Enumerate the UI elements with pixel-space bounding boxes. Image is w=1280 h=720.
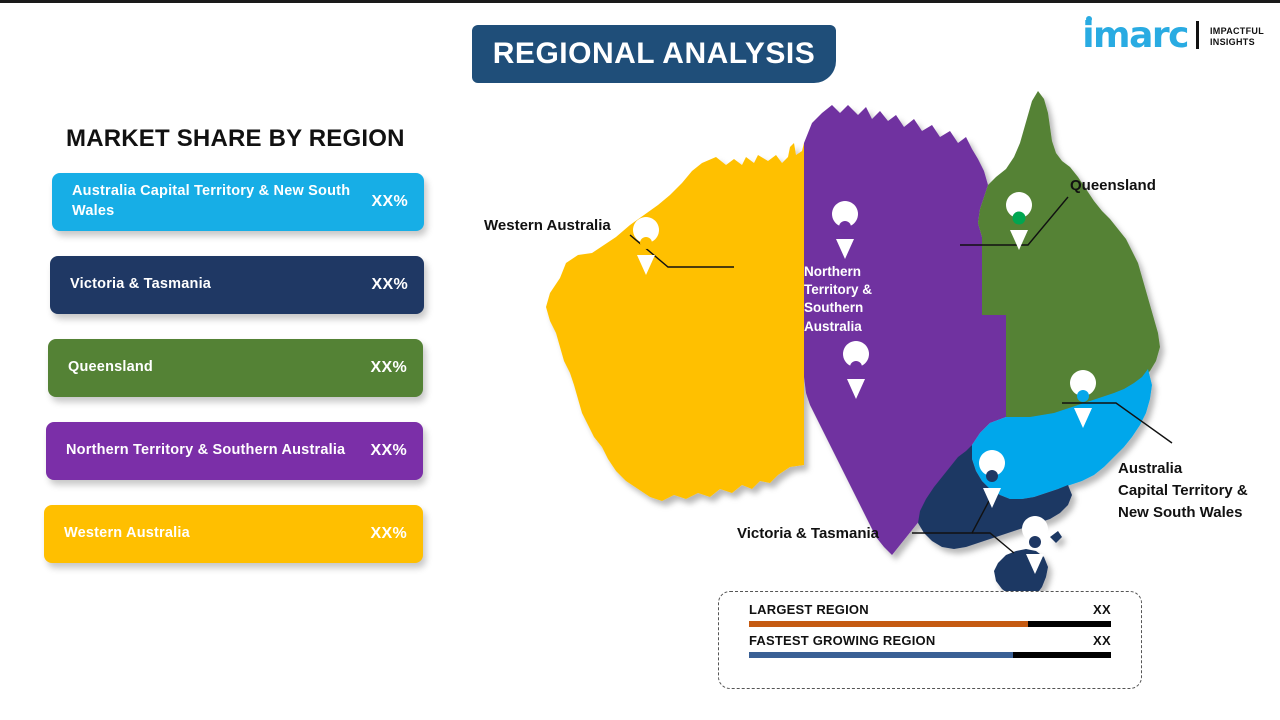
logo-text: imarc (1082, 21, 1188, 51)
callout-queensland: Queensland (1070, 175, 1156, 197)
bar-value: XX% (371, 525, 407, 543)
stat-label: LARGEST REGION (749, 602, 869, 617)
stat-row-largest-region: LARGEST REGION XX (749, 602, 1111, 627)
bar-item-victoria-tasmania[interactable]: Victoria & Tasmania XX% (50, 256, 424, 314)
stat-progress-track (749, 652, 1111, 658)
market-share-bar-list: Australia Capital Territory & New South … (0, 173, 460, 588)
bar-item-act-nsw[interactable]: Australia Capital Territory & New South … (52, 173, 424, 231)
logo-tagline-line2: INSIGHTS (1210, 37, 1264, 48)
region-stats-box: LARGEST REGION XX FASTEST GROWING REGION… (718, 591, 1142, 689)
callout-victoria-tasmania: Victoria & Tasmania (737, 523, 879, 545)
bar-value: XX% (371, 359, 407, 377)
logo-tagline: IMPACTFUL INSIGHTS (1210, 26, 1264, 52)
page-title: REGIONAL ANALYSIS (493, 37, 815, 71)
slide-root: REGIONAL ANALYSIS imarc IMPACTFUL INSIGH… (0, 3, 1280, 720)
stat-value: XX (1093, 633, 1111, 648)
stat-label: FASTEST GROWING REGION (749, 633, 935, 648)
stat-progress-fill (749, 621, 1028, 627)
bar-value: XX% (371, 442, 407, 460)
stat-row-fastest-growing-region: FASTEST GROWING REGION XX (749, 633, 1111, 658)
stat-progress-fill (749, 652, 1013, 658)
imarc-logo: imarc IMPACTFUL INSIGHTS (1082, 21, 1264, 51)
bar-label: Western Australia (64, 524, 190, 544)
bar-label: Victoria & Tasmania (70, 275, 211, 295)
logo-tagline-line1: IMPACTFUL (1210, 26, 1264, 37)
bar-item-queensland[interactable]: Queensland XX% (48, 339, 423, 397)
bar-label: Queensland (68, 358, 153, 378)
stat-value: XX (1093, 602, 1111, 617)
page-title-banner: REGIONAL ANALYSIS (472, 25, 836, 83)
callout-act-nsw: Australia Capital Territory & New South … (1118, 458, 1248, 523)
region-western-australia (546, 143, 804, 501)
bar-item-western-australia[interactable]: Western Australia XX% (44, 505, 423, 563)
bar-value: XX% (372, 276, 408, 294)
island-small-ne (1050, 531, 1062, 543)
bar-value: XX% (372, 193, 408, 211)
panel-title: MARKET SHARE BY REGION (66, 125, 405, 153)
bar-label: Northern Territory & Southern Australia (66, 441, 345, 461)
logo-divider (1196, 21, 1199, 49)
stat-progress-track (749, 621, 1111, 627)
bar-item-northern-southern[interactable]: Northern Territory & Southern Australia … (46, 422, 423, 480)
map-label-northern-southern-australia: Northern Territory & Southern Australia (804, 263, 872, 336)
bar-label: Australia Capital Territory & New South … (72, 182, 362, 221)
logo-wordmark: imarc (1082, 21, 1188, 51)
callout-western-australia: Western Australia (484, 215, 611, 237)
